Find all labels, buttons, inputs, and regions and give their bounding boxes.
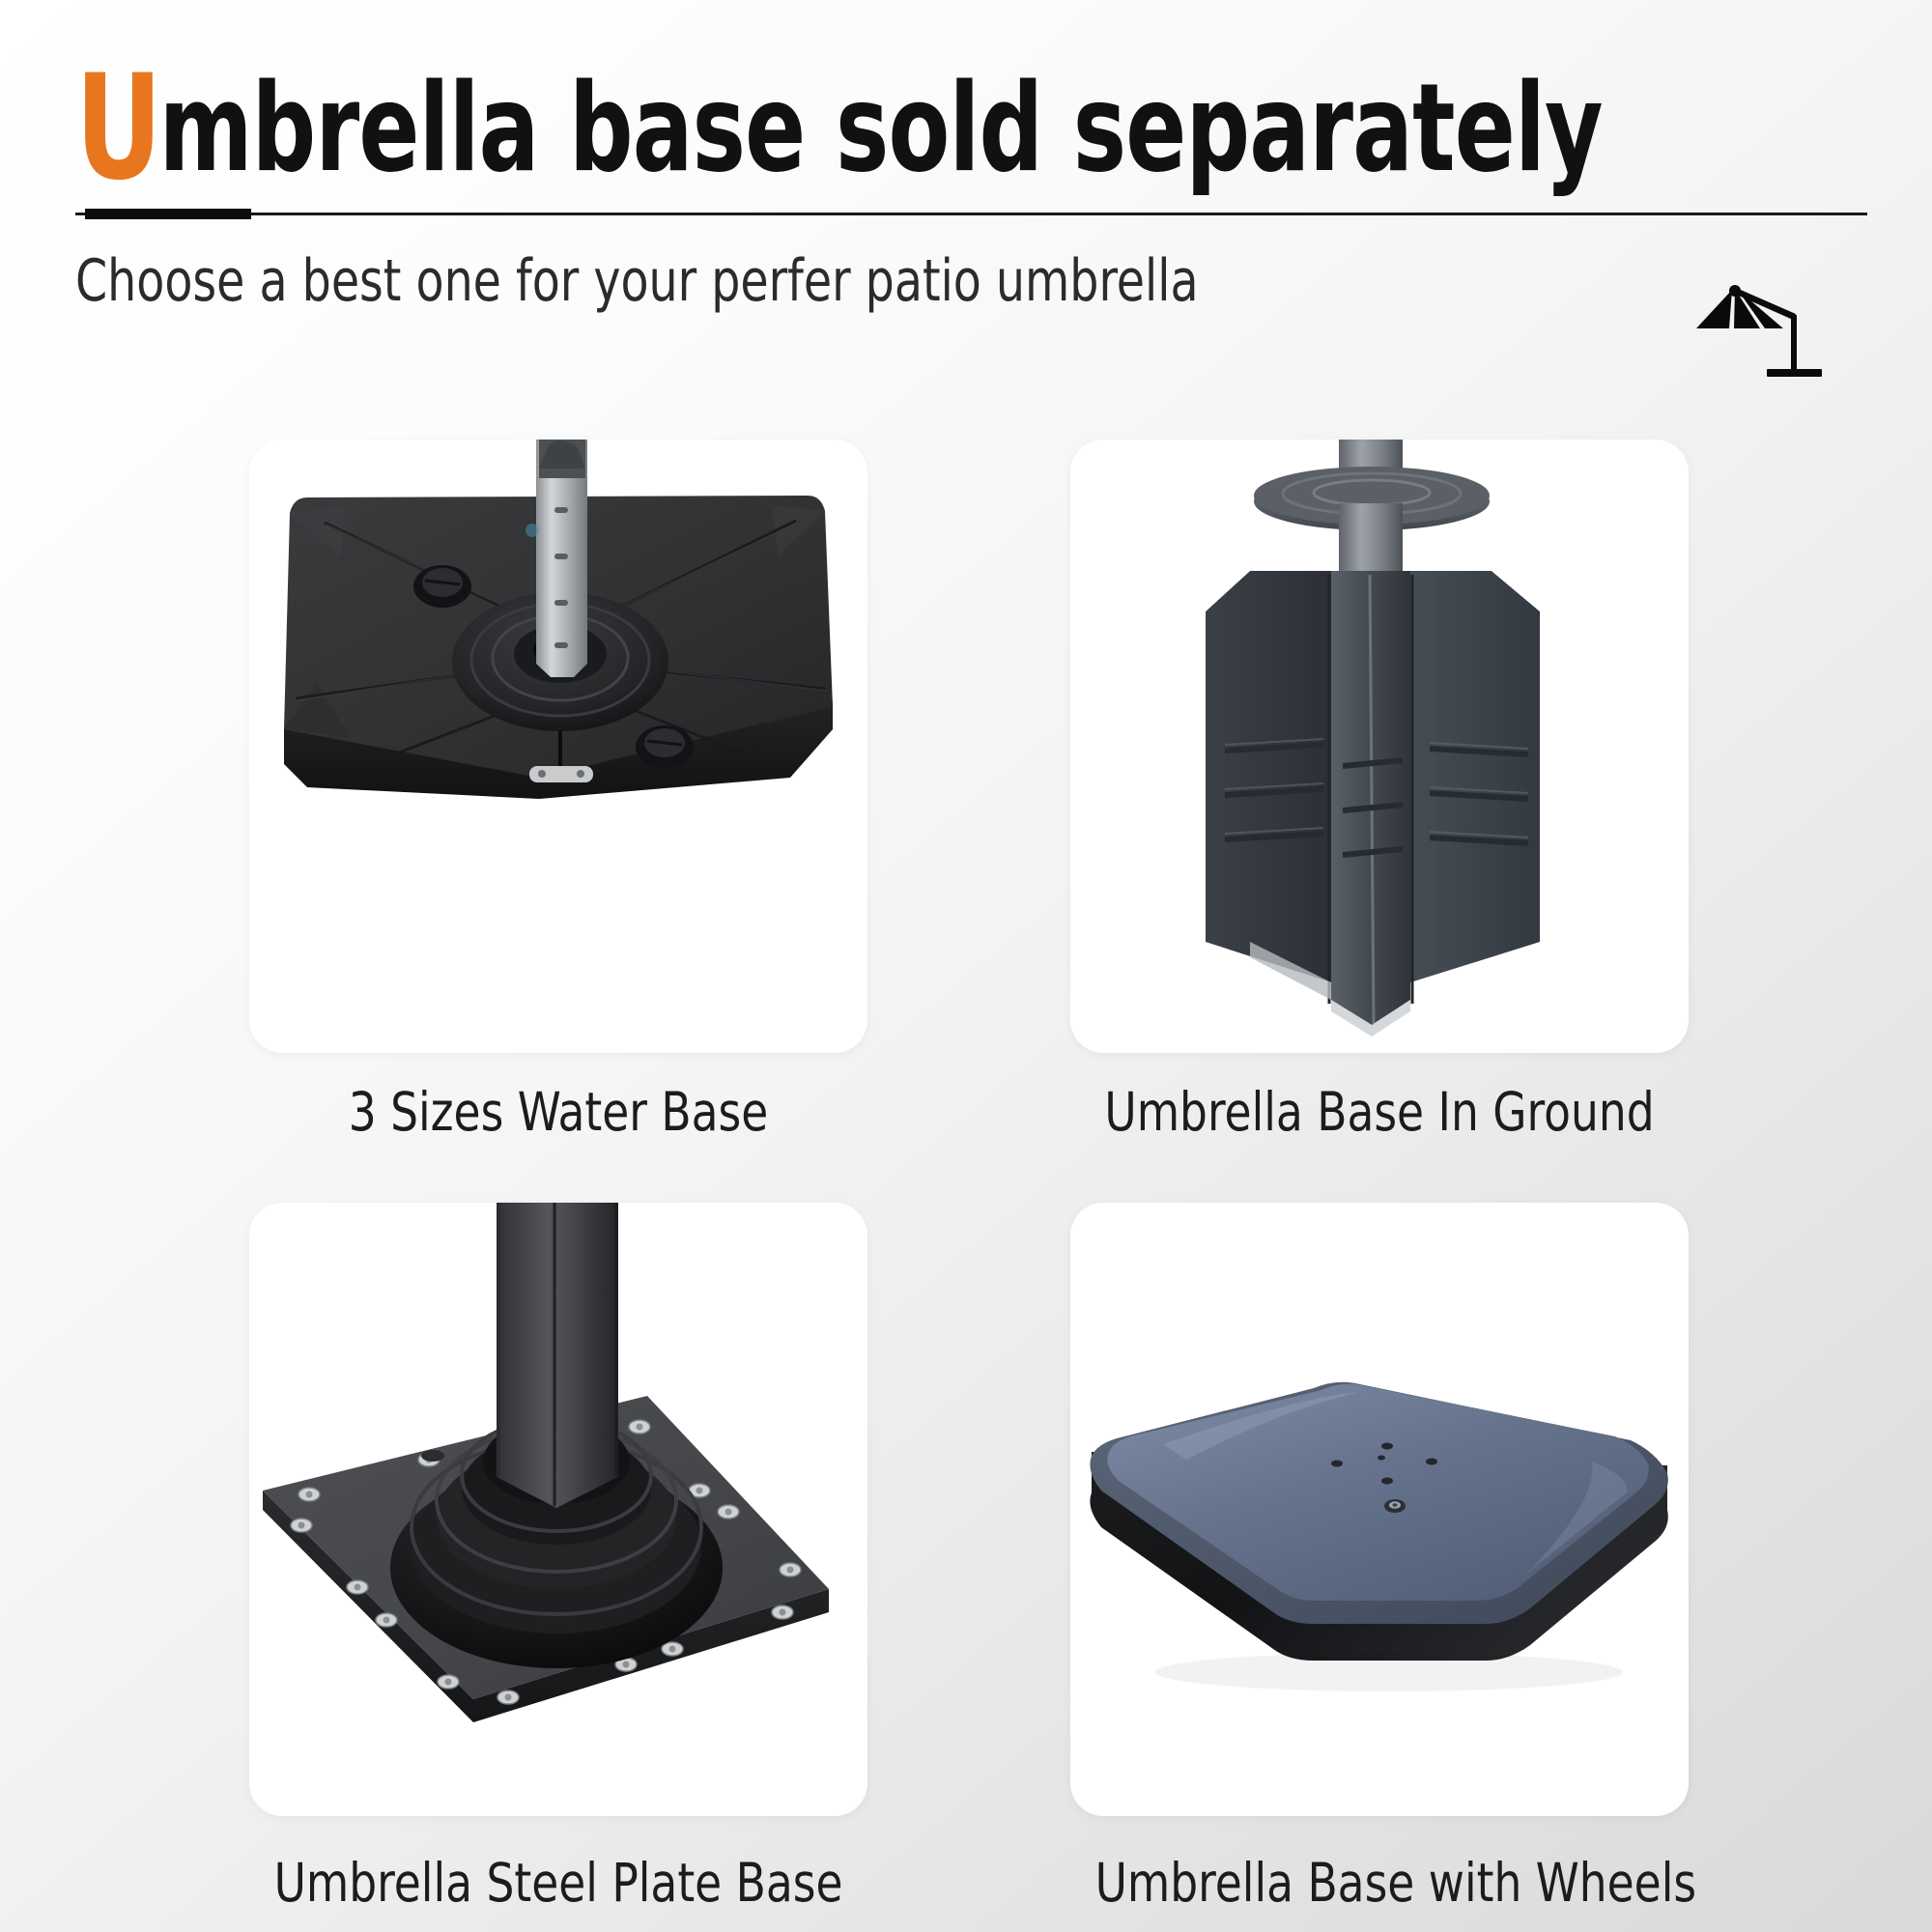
card-image-frame bbox=[249, 1203, 867, 1816]
product-card-grid: 3 Sizes Water Base bbox=[0, 0, 1932, 1932]
infographic-page: Umbrella base sold separately Choose a b… bbox=[0, 0, 1932, 1932]
water-base-illustration bbox=[249, 440, 867, 1053]
card-label: Umbrella Base In Ground bbox=[1095, 1082, 1664, 1143]
card-label: 3 Sizes Water Base bbox=[274, 1082, 843, 1143]
card-image-frame bbox=[249, 440, 867, 1053]
product-card-in-ground-base[interactable]: Umbrella Base In Ground bbox=[1070, 440, 1689, 1143]
card-label: Umbrella Steel Plate Base bbox=[274, 1853, 843, 1914]
product-card-wheeled-base[interactable]: Umbrella Base with Wheels bbox=[1070, 1203, 1689, 1914]
in-ground-base-illustration bbox=[1070, 440, 1689, 1053]
steel-plate-base-illustration bbox=[249, 1203, 867, 1816]
card-image-frame bbox=[1070, 1203, 1689, 1816]
card-label: Umbrella Base with Wheels bbox=[1095, 1853, 1664, 1914]
product-card-steel-plate-base[interactable]: Umbrella Steel Plate Base bbox=[249, 1203, 867, 1914]
card-image-frame bbox=[1070, 440, 1689, 1053]
wheeled-base-illustration bbox=[1070, 1203, 1689, 1816]
product-card-water-base[interactable]: 3 Sizes Water Base bbox=[249, 440, 867, 1143]
